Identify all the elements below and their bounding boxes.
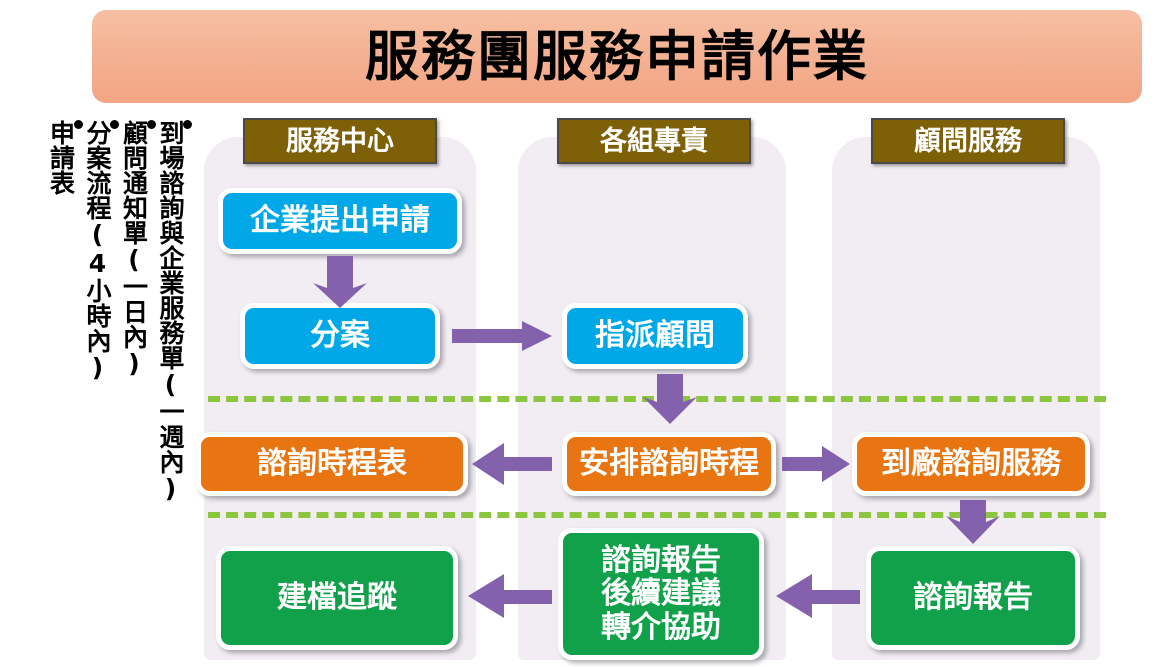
lane-header-label: 各組專責 (600, 128, 708, 155)
node-report-followup[interactable]: 諮詢報告 後續建議 轉介協助 (558, 528, 764, 660)
legend-item-text: 到場諮詢與企業服務單(一週內) (156, 120, 185, 503)
lane-header-label: 服務中心 (286, 128, 394, 155)
title-banner: 服務團服務申請作業 (92, 10, 1142, 103)
node-label: 指派顧問 (595, 319, 715, 353)
node-arrange-schedule[interactable]: 安排諮詢時程 (562, 432, 776, 496)
lane-header-service-center: 服務中心 (243, 118, 437, 164)
node-label-line-1: 諮詢報告 (601, 544, 721, 578)
node-onsite-service[interactable]: 到廠諮詢服務 (852, 432, 1090, 496)
legend-item-0: 到場諮詢與企業服務單(一週內) (158, 120, 193, 660)
legend-notes: 到場諮詢與企業服務單(一週內) 顧問通知單(一日內) 分案流程(4小時內) 申請… (22, 120, 192, 660)
legend-item-text: 申請表 (47, 120, 76, 195)
phase-divider-lower (208, 512, 1106, 518)
node-schedule-table[interactable]: 諮詢時程表 (196, 432, 468, 496)
lane-header-consultant-service: 顧問服務 (871, 118, 1065, 164)
node-label: 建檔追蹤 (277, 581, 397, 615)
lane-header-group-responsible: 各組專責 (557, 118, 751, 164)
page-title: 服務團服務申請作業 (365, 30, 869, 84)
node-label: 分案 (310, 319, 370, 353)
node-label: 安排諮詢時程 (579, 447, 759, 481)
node-report[interactable]: 諮詢報告 (866, 546, 1080, 650)
node-label: 諮詢時程表 (257, 447, 407, 481)
node-label: 企業提出申請 (250, 204, 430, 238)
node-label: 到廠諮詢服務 (881, 447, 1061, 481)
node-label-line-2: 後續建議 (601, 577, 721, 611)
node-apply[interactable]: 企業提出申請 (218, 188, 462, 254)
legend-item-text: 顧問通知單(一日內) (120, 120, 149, 378)
node-label: 諮詢報告 (913, 581, 1033, 615)
diagram-canvas: 服務團服務申請作業 到場諮詢與企業服務單(一週內) 顧問通知單(一日內) 分案流… (0, 0, 1158, 667)
legend-item-2: 分案流程(4小時內) (85, 120, 120, 660)
legend-item-1: 顧問通知單(一日內) (121, 120, 156, 660)
legend-item-text: 分案流程(4小時內) (83, 120, 112, 382)
node-assign-consultant[interactable]: 指派顧問 (562, 303, 748, 369)
node-assign-case[interactable]: 分案 (240, 303, 440, 369)
node-archive-tracking[interactable]: 建檔追蹤 (216, 546, 458, 650)
legend-item-3: 申請表 (48, 120, 83, 660)
phase-divider-upper (208, 396, 1106, 402)
lane-header-label: 顧問服務 (914, 128, 1022, 155)
node-label-line-3: 轉介協助 (601, 611, 721, 645)
